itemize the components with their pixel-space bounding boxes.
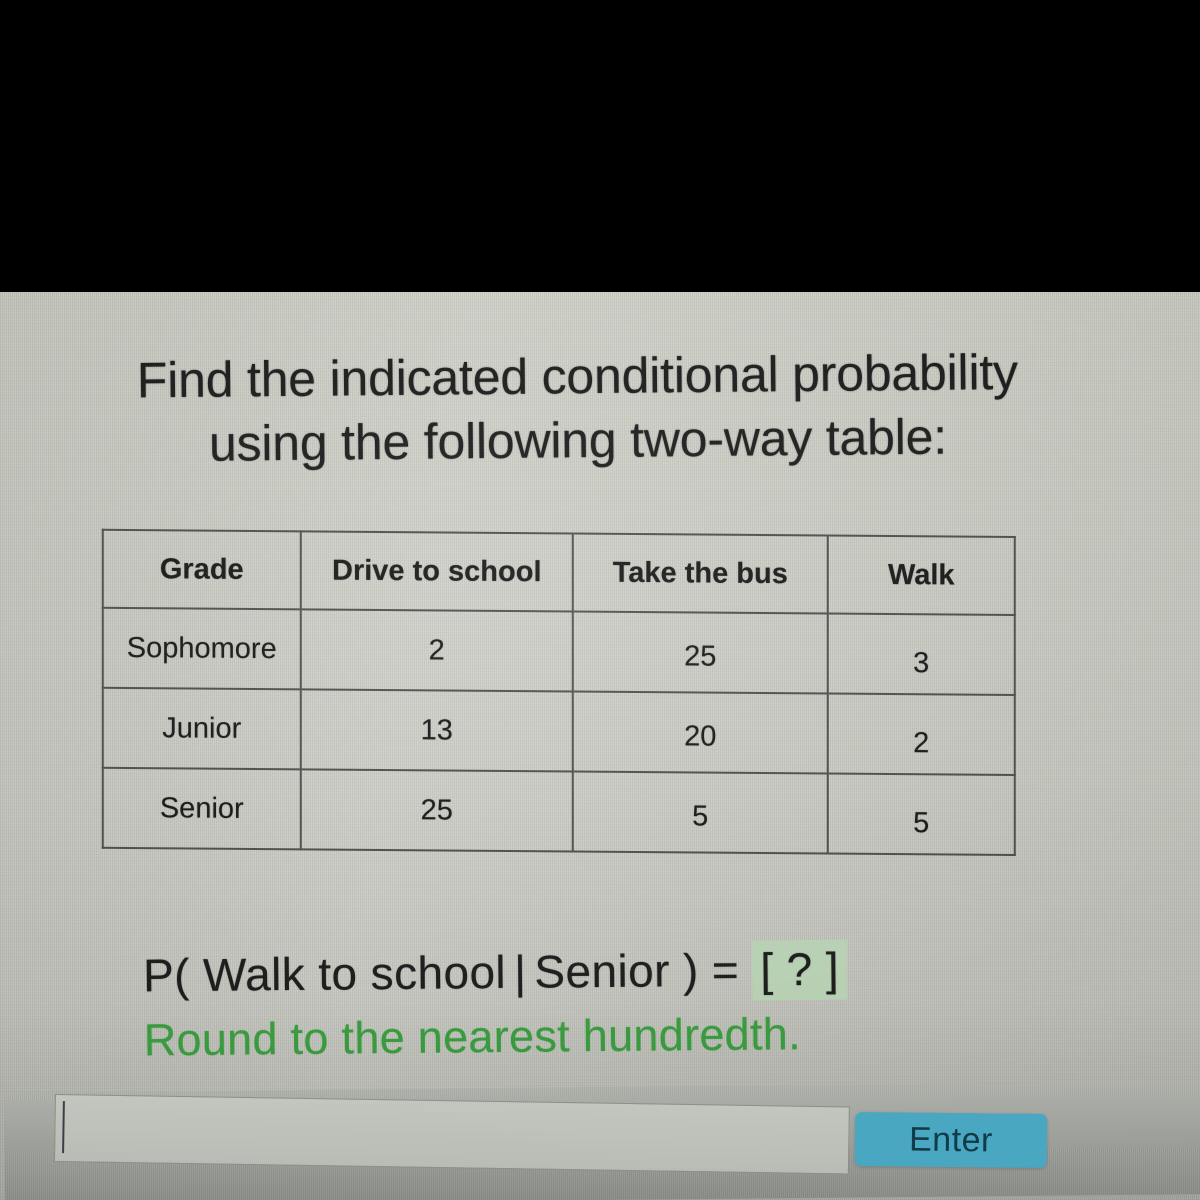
cell-sophomore-drive: 2 [301, 609, 573, 691]
two-way-table-wrapper: Grade Drive to school Take the bus Walk … [102, 529, 1014, 856]
cell-sophomore-walk: 3 [828, 622, 1015, 703]
column-header-grade: Grade [103, 530, 301, 610]
cell-grade-senior: Senior [103, 768, 301, 850]
answer-placeholder: [ ? ] [752, 940, 847, 1001]
cell-grade-junior: Junior [103, 688, 301, 770]
column-header-walk: Walk [828, 535, 1015, 614]
slide-content: Find the indicated conditional probabili… [0, 292, 1200, 1200]
enter-button[interactable]: Enter [855, 1112, 1048, 1168]
rounding-instruction: Round to the nearest hundredth. [143, 1008, 801, 1066]
cell-senior-drive: 25 [301, 769, 573, 851]
answer-input[interactable] [54, 1094, 850, 1174]
cell-grade-sophomore: Sophomore [103, 608, 301, 690]
probability-expression: P( Walk to school|Senior ) = [ ? ] [143, 940, 848, 1007]
conditional-bar: | [506, 945, 535, 999]
probability-prefix: P( Walk to school [143, 946, 506, 1001]
cell-junior-bus: 20 [573, 695, 828, 777]
table-header-row: Grade Drive to school Take the bus Walk [103, 530, 1015, 615]
cell-senior-bus: 5 [573, 775, 828, 857]
table-row: Sophomore 2 25 3 [103, 608, 1015, 695]
page-title: Find the indicated conditional probabili… [0, 339, 1158, 478]
two-way-table: Grade Drive to school Take the bus Walk … [102, 529, 1016, 856]
column-header-drive: Drive to school [301, 531, 573, 611]
probability-condition: Senior ) = [534, 944, 739, 998]
question-line-1: Find the indicated conditional probabili… [137, 344, 1019, 408]
screenshot-root: Find the indicated conditional probabili… [0, 0, 1200, 1200]
monitor-screen-area: Find the indicated conditional probabili… [0, 292, 1200, 1200]
cell-junior-drive: 13 [301, 689, 573, 771]
cell-junior-walk: 2 [828, 702, 1015, 783]
cell-sophomore-bus: 25 [573, 615, 828, 697]
column-header-bus: Take the bus [573, 533, 828, 613]
question-line-2: using the following two-way table: [0, 403, 1158, 478]
cell-senior-walk: 5 [828, 782, 1015, 863]
text-cursor [62, 1101, 65, 1153]
